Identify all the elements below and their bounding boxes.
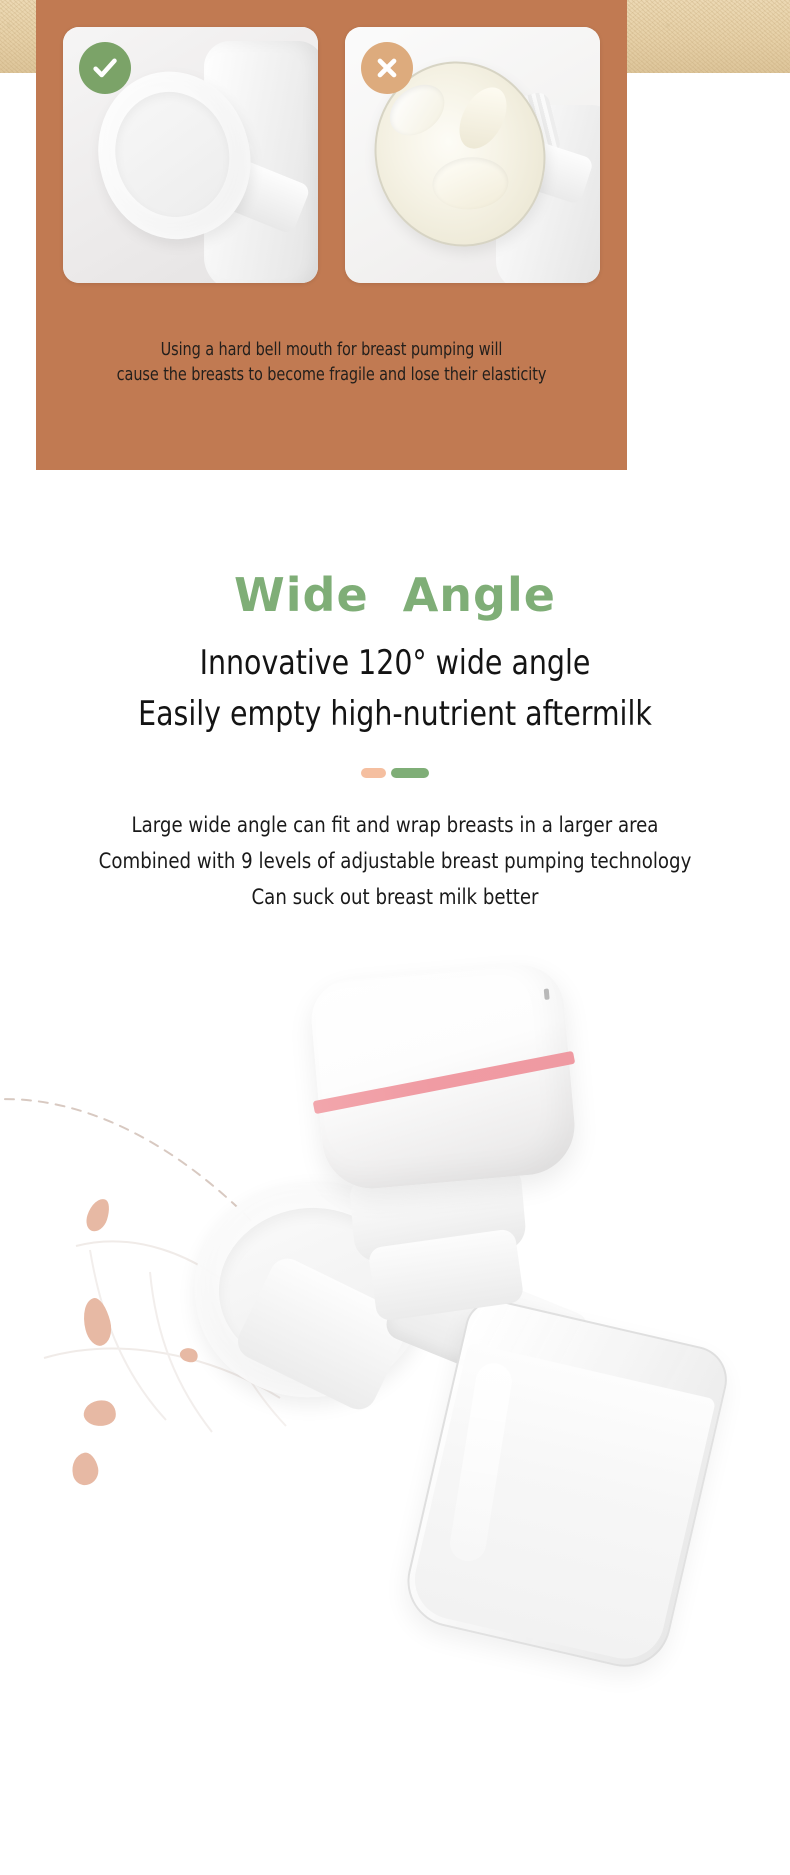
divider-pill-peach bbox=[361, 768, 386, 778]
comparison-caption-line-1: Using a hard bell mouth for breast pumpi… bbox=[60, 338, 604, 363]
comparison-card-correct[interactable] bbox=[63, 27, 318, 283]
comparison-cards-row bbox=[63, 27, 600, 283]
feature-title: Wide Angle bbox=[0, 568, 790, 622]
accent-stripe bbox=[313, 1051, 576, 1114]
top-texture-strip-right bbox=[627, 0, 790, 73]
feature-body-line-2: Combined with 9 levels of adjustable bre… bbox=[24, 844, 767, 880]
feature-body-line-1: Large wide angle can fit and wrap breast… bbox=[24, 808, 767, 844]
divider-pill-green bbox=[391, 768, 429, 778]
cross-icon bbox=[361, 42, 413, 94]
comparison-panel: Using a hard bell mouth for breast pumpi… bbox=[36, 0, 627, 470]
feature-subtitle-line-1: Innovative 120° wide angle bbox=[28, 638, 763, 689]
top-texture-strip-left bbox=[0, 0, 36, 73]
check-icon bbox=[79, 42, 131, 94]
wide-angle-feature-section: Wide Angle Innovative 120° wide angle Ea… bbox=[0, 470, 790, 916]
comparison-card-incorrect[interactable] bbox=[345, 27, 600, 283]
feature-subtitle: Innovative 120° wide angle Easily empty … bbox=[28, 638, 763, 740]
feature-body-line-3: Can suck out breast milk better bbox=[24, 880, 767, 916]
product-hero-image bbox=[0, 950, 790, 1875]
section-divider bbox=[0, 768, 790, 778]
pump-motor-unit bbox=[308, 961, 578, 1192]
indicator-led-icon bbox=[544, 988, 550, 999]
comparison-caption-line-2: cause the breasts to become fragile and … bbox=[60, 363, 604, 388]
feature-subtitle-line-2: Easily empty high-nutrient aftermilk bbox=[28, 689, 763, 740]
feature-body-text: Large wide angle can fit and wrap breast… bbox=[24, 808, 767, 916]
milk-fill bbox=[407, 1342, 716, 1666]
comparison-caption: Using a hard bell mouth for breast pumpi… bbox=[60, 338, 604, 388]
